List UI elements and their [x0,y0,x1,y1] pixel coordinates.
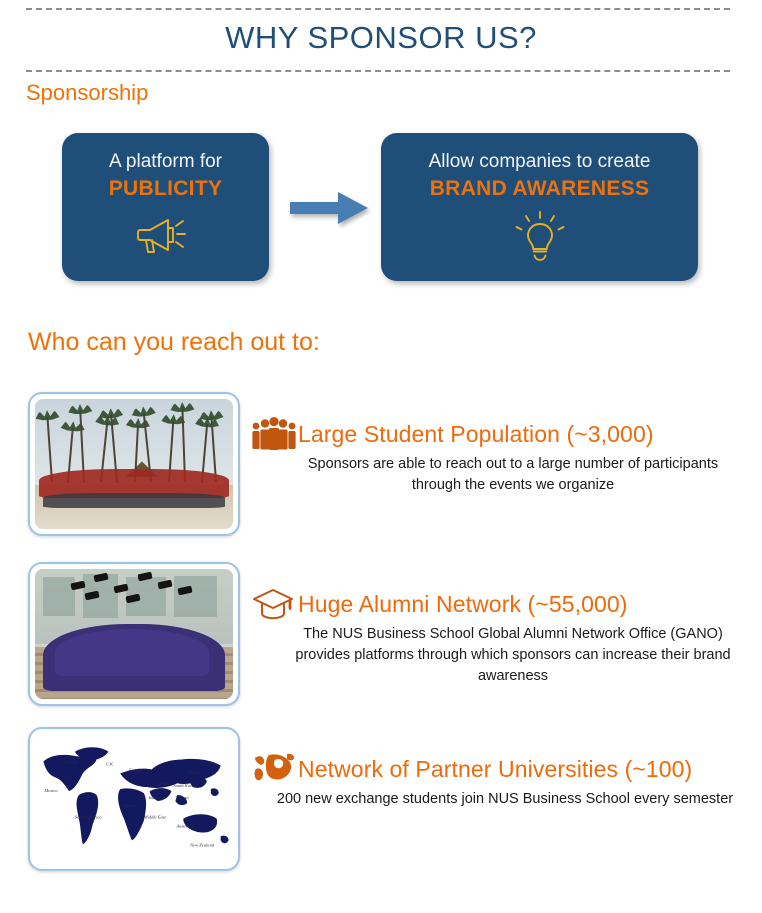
svg-text:South Korea: South Korea [173,783,196,788]
graduation-ceremony-photo [28,562,240,706]
svg-text:Australia: Australia [175,824,194,829]
lightbulb-icon [381,209,698,263]
divider-top [26,8,730,10]
svg-text:U.S: U.S [65,775,72,780]
globe-icon [250,751,298,787]
flow-box-brand-line1: Allow companies to create [381,149,698,175]
megaphone-icon [62,209,269,263]
svg-text:Japan: Japan [188,769,200,774]
svg-text:New Zealand: New Zealand [189,842,215,847]
svg-text:China: China [159,781,171,786]
svg-text:South America: South America [75,815,102,820]
reach-item-description: The NUS Business School Global Alumni Ne… [250,624,762,687]
svg-text:Africa: Africa [122,803,135,808]
svg-text:U.K: U.K [105,762,113,767]
divider-under-title [26,70,730,72]
reach-item-description: Sponsors are able to reach out to a larg… [250,454,762,496]
world-map-photo: Canada U.S Mexico South America U.K Euro… [28,727,240,871]
section-label-sponsorship: Sponsorship [26,80,148,106]
graduation-cap-icon [250,586,298,622]
reach-item-description: 200 new exchange students join NUS Busin… [250,789,762,810]
svg-text:India: India [148,795,159,800]
flow-box-brand-line2: BRAND AWARENESS [381,175,698,203]
flow-box-publicity-line1: A platform for [62,149,269,175]
flow-box-publicity-line2: PUBLICITY [62,175,269,203]
svg-text:Canada: Canada [64,760,79,765]
flow-box-publicity: A platform for PUBLICITY [62,133,269,281]
reach-item-title: Large Student Population (~3,000) [298,421,654,448]
reach-item-title: Network of Partner Universities (~100) [298,756,692,783]
page-title: WHY SPONSOR US? [0,20,762,56]
reach-out-heading: Who can you reach out to: [28,328,320,357]
svg-text:Mexico: Mexico [43,788,58,793]
svg-text:Middle East: Middle East [143,815,167,820]
flow-box-brand-awareness: Allow companies to create BRAND AWARENES… [381,133,698,281]
svg-text:Taiwan: Taiwan [175,795,189,800]
reach-item-title: Huge Alumni Network (~55,000) [298,591,628,618]
arrow-right-icon [288,186,374,230]
svg-text:Europe: Europe [128,767,142,772]
beach-group-photo [28,392,240,536]
people-group-icon [250,416,298,452]
